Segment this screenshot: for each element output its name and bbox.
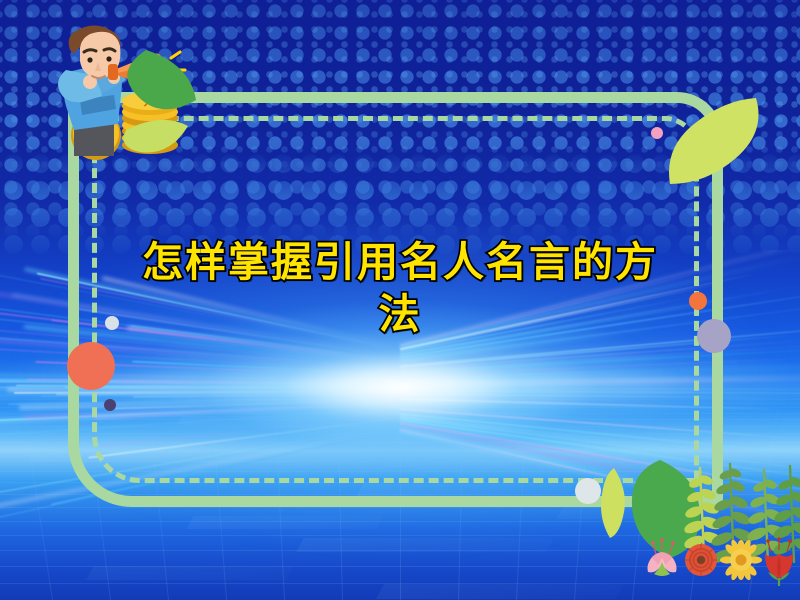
pink-lotus-flower [648,538,677,576]
orange-dot-right [689,292,707,310]
coral-rose-flower [685,544,717,576]
flower-row [644,536,800,588]
presentation-slide: 元 ¥ [0,0,800,600]
purple-gray-circle-right [697,319,731,353]
cartoon-man-with-megaphone-illustration: 元 ¥ [28,8,228,183]
dark-purple-dot [104,399,116,411]
red-tulip-flower [765,537,793,586]
yellow-green-leaf-bottom [601,468,625,538]
coral-circle-left [67,342,115,390]
yellow-daisy-flower [720,539,762,581]
light-gray-dot [105,316,119,330]
yellow-green-leaf-top-right [660,92,770,192]
